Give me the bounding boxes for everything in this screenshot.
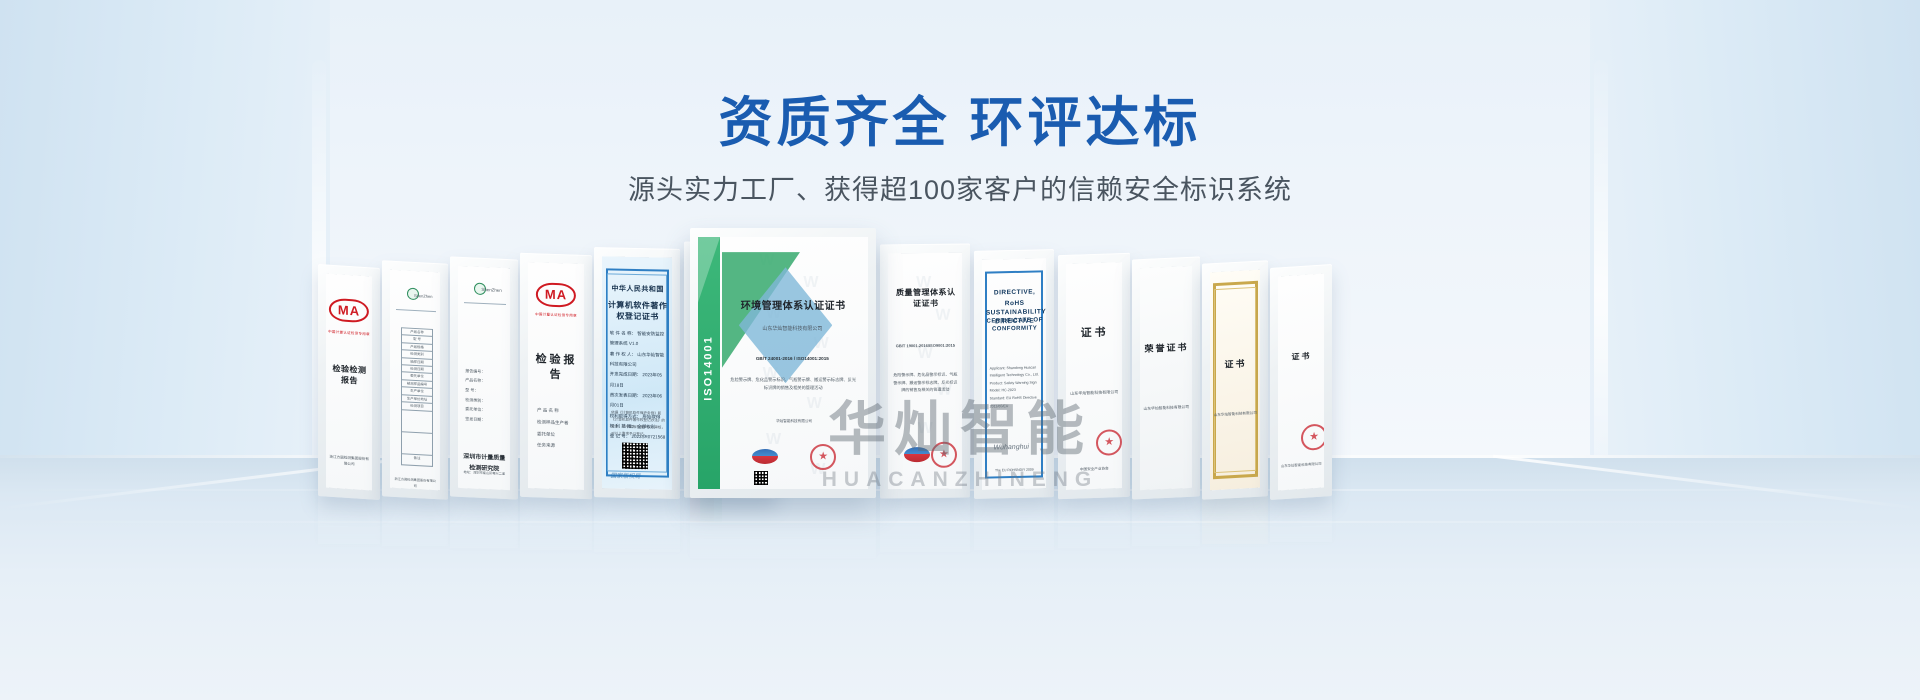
certificate-seal-label: ShenZhen [414,293,432,299]
certificate-title: 检验检测报告 [329,364,370,388]
certificate-seal-label: ShenZhen [481,287,501,294]
qr-code [622,442,648,469]
certificate-paper: 证书 山东华灿智能科技有限公司 [1210,270,1260,491]
certificate-footer: 浙江方圆检测集团股份有限公司 [329,453,370,468]
cma-badge: MA [329,297,369,323]
certificate-paper: MA 中国计量认证检测专用章 检验报告 产 品 名 称 检测样品生产者 委托单位… [528,262,584,490]
certificate-table: 产品名称 型 号 产品规格 检测类别 抽样日期 检测日期 委托单位 被测样品编号… [401,327,433,467]
certificate-paper: WW WW WW WW ISO14001 环境管理体系认证证书 山东华灿智能科技… [698,237,868,489]
certificate-note: 依据《计算机软件保护条例》和《计算机软件著作权登记办法》的规定，经中国版权保护中… [611,410,665,438]
certificate-paper: 荣誉证书 山东华灿智能科技有限公司 [1140,266,1192,490]
certificate-footer: 浙江方圆检测集团股份有限公司 [393,477,438,490]
certificate-title: DIRECTIVE, [986,288,1044,298]
certificate-frame[interactable]: ShenZhen 产品名称 型 号 产品规格 检测类别 抽样日期 检测日期 委托… [382,260,448,500]
decorative-border-inner [1214,287,1256,472]
certificate-fields: 产 品 名 称 检测样品生产者 委托单位 任务来源 [537,405,581,453]
certificate-frame[interactable]: 荣誉证书 山东华灿智能科技有限公司 [1132,256,1200,499]
banner-stage: 资质齐全 环评达标 源头实力工厂、获得超100家客户的信赖安全标识系统 MA 中… [0,0,1920,700]
certificate-body: 危险警示牌、危化品警示标识、气瓶警示牌、搬运警示标志牌、反光标识牌的销售及相关的… [892,371,958,394]
band-corner-cut [698,237,720,303]
certificate-title: 中华人民共和国 [606,284,669,295]
certificate-subtitle: 山东华灿智能科技有限公司 [725,325,859,334]
certificate-footer: 中国安全产业协会 [1069,466,1119,474]
certificate-body: 山东华灿智能科技有限公司 [1069,389,1119,398]
certificate-frame[interactable]: 证书 山东华灿智能科技有限公司 中国安全产业协会 [1058,253,1130,500]
certificate-paper: MA 中国计量认证检测专用章 检验检测报告 浙江方圆检测集团股份有限公司 [326,274,372,491]
certificate-frame[interactable]: WW WW W 质量管理体系认证证书 GB/T 19001-2016/ISO90… [880,244,970,499]
body-line: Standard: EU RoHS Directive 2011/65/EU [990,394,1043,410]
certificate-paper: ShenZhen 报告编号： 产品名称： 型 号： 检测类别： 委托单位： 签发… [458,266,510,490]
headline-block: 资质齐全 环评达标 源头实力工厂、获得超100家客户的信赖安全标识系统 [0,92,1920,207]
accreditation-logo [752,449,778,464]
certificate-title: 证书 [1213,357,1258,372]
body-line: Applicant: Shandong Huacan Intelligent T… [990,364,1043,380]
certificate-title: 质量管理体系认证证书 [892,288,959,310]
signature: Wuhanghui [994,443,1029,453]
field-row: 签发日期： [465,414,507,426]
certificate-title: 环境管理体系认证证书 [725,300,861,314]
certificate-footer: 华灿智能科技有限公司 [729,418,860,425]
accreditation-logo [904,446,930,461]
certificate-paper: WW WW W 质量管理体系认证证书 GB/T 19001-2016/ISO90… [888,253,962,490]
field-row: 著 作 权 人： 山东华灿智能科技有限公司 [610,349,666,371]
certificate-title-2: 计算机软件著作权登记证书 [606,300,669,323]
field-row: 开发完成日期： 2023年05月18日 [610,370,666,392]
certificate-paper: 证书 山东华灿智能科技有限公司 [1278,274,1324,491]
signature: 国家版权局 [610,472,640,481]
certificate-fields: 报告编号： 产品名称： 型 号： 检测类别： 委托单位： 签发日期： [465,366,507,425]
standard-label: ISO14001 [702,335,717,401]
certificate-standard: GB/T 24001-2016 / ISO14001:2015 [725,355,859,363]
official-stamp [810,444,836,470]
certificate-title: 证书 [1069,325,1119,342]
certificate-footer-sub: 地址：深圳市南山区粤兴二道 [461,470,507,478]
official-stamp [931,441,957,467]
certificate-frame[interactable]: WW WW WW WW ISO14001 环境管理体系认证证书 山东华灿智能科技… [690,228,876,498]
official-stamp [1301,423,1324,451]
cma-badge-sub: 中国计量认证检测专用章 [535,312,577,318]
certificate-title-3: CERTIFICATE OF CONFORMITY [986,316,1044,333]
certificate-title: 检验报告 [531,353,581,384]
page-subtitle: 源头实力工厂、获得超100家客户的信赖安全标识系统 [0,168,1920,207]
field-row: 软 件 名 称： 智能安防监控管理系统 V1.0 [610,328,666,350]
official-stamp [1096,429,1122,456]
certificate-body: Applicant: Shandong Huacan Intelligent T… [990,364,1043,410]
cma-badge-sub: 中国计量认证检测专用章 [328,329,370,336]
certificate-frame[interactable]: 中华人民共和国 计算机软件著作权登记证书 软 件 名 称： 智能安防监控管理系统… [594,247,680,499]
certificate-frame[interactable]: 证书 山东华灿智能科技有限公司 [1270,264,1332,500]
cma-badge: MA [536,283,576,308]
certificate-frame[interactable]: MA 中国计量认证检测专用章 检验报告 产 品 名 称 检测样品生产者 委托单位… [520,253,592,500]
certificate-body: 危险警示牌、危化品警示标识、气瓶警示牌、搬运警示标志牌、反光标识牌的销售及相关的… [729,376,858,392]
certificate-title: 证书 [1281,351,1322,364]
page-title: 资质齐全 环评达标 [0,92,1920,154]
certificate-frame[interactable]: DIRECTIVE, RoHS SUSTAINABILITY DIRECTIVE… [974,249,1054,499]
certificate-frame[interactable]: MA 中国计量认证检测专用章 检验检测报告 浙江方圆检测集团股份有限公司 [318,264,380,500]
certificate-wall: MA 中国计量认证检测专用章 检验检测报告 浙江方圆检测集团股份有限公司 She… [0,228,1920,498]
qr-code [754,471,768,485]
certificate-frame[interactable]: 证书 山东华灿智能科技有限公司 [1202,260,1268,500]
certificate-paper: ShenZhen 产品名称 型 号 产品规格 检测类别 抽样日期 检测日期 委托… [390,270,440,491]
certificate-title: 荣誉证书 [1143,341,1190,355]
certificate-paper: 证书 山东华灿智能科技有限公司 中国安全产业协会 [1066,262,1122,490]
certificate-frame[interactable]: ShenZhen 报告编号： 产品名称： 型 号： 检测类别： 委托单位： 签发… [450,256,518,499]
certificate-footer: 山东华灿智能科技有限公司 [1281,462,1322,470]
field-row: 任务来源 [537,440,581,453]
certificate-color-band: ISO14001 [698,237,720,489]
certificate-paper: 中华人民共和国 计算机软件著作权登记证书 软 件 名 称： 智能安防监控管理系统… [602,256,672,489]
certificate-standard: GB/T 19001-2016/ISO9001:2015 [892,342,958,349]
certificate-body: 山东华灿智能科技有限公司 [1143,404,1189,413]
certificate-paper: DIRECTIVE, RoHS SUSTAINABILITY DIRECTIVE… [982,258,1046,489]
